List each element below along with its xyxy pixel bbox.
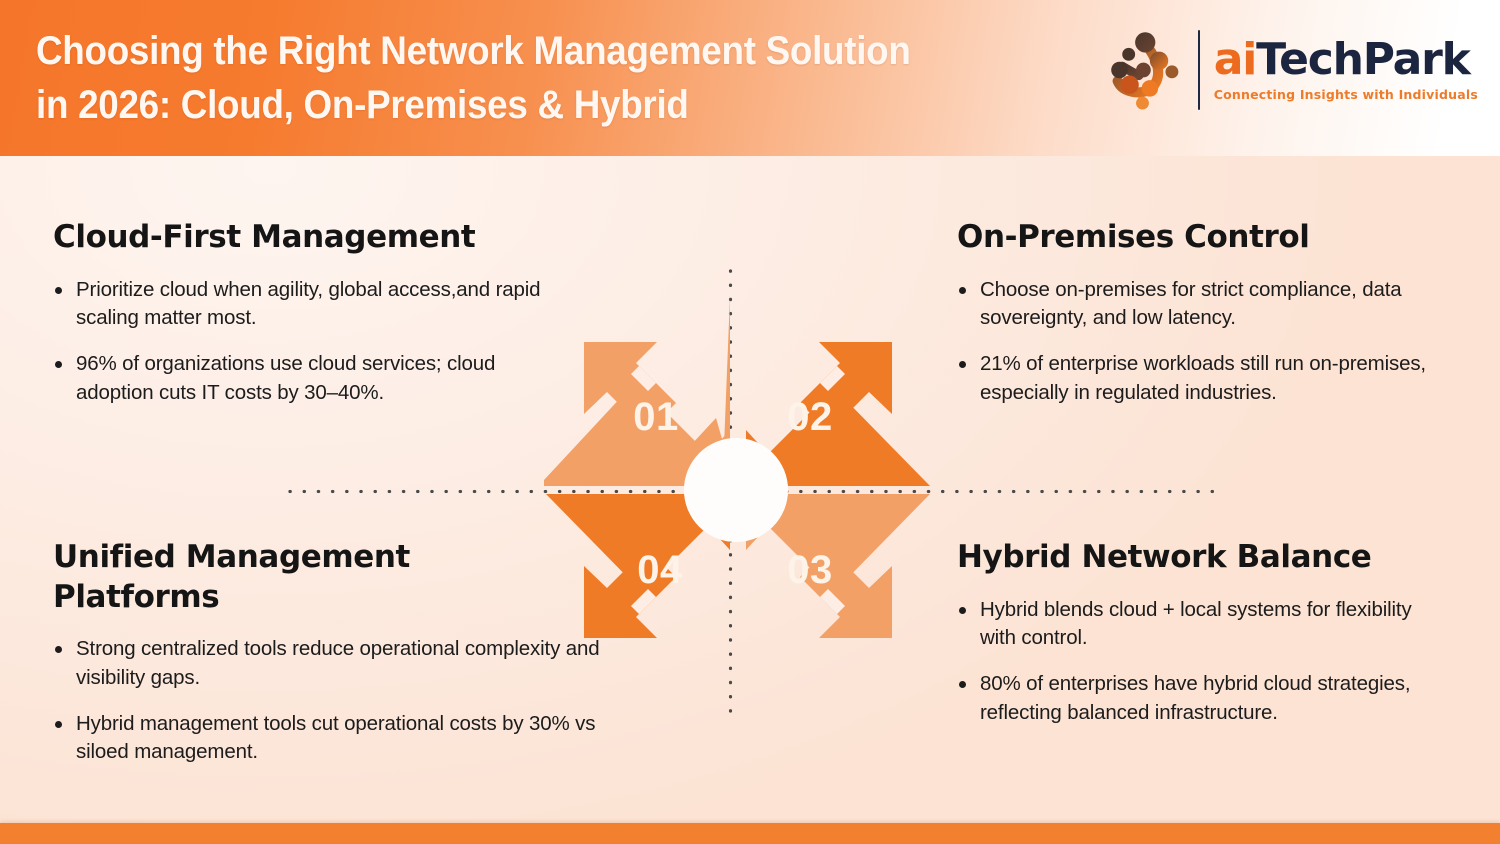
quadrant-title: Hybrid Network Balance — [957, 538, 1452, 578]
footer-accent-bar — [0, 823, 1500, 844]
bullet-item: Hybrid blends cloud + local systems for … — [957, 596, 1452, 653]
quadrant-bullets: Choose on-premises for strict compliance… — [957, 276, 1472, 408]
logo-wordmark: ai TechPark Connecting Insights with Ind… — [1214, 38, 1478, 102]
molecule-network-icon — [1102, 24, 1194, 116]
step-number-03: 03 — [787, 548, 833, 592]
quadrant-on-premises: On-Premises Control Choose on-premises f… — [957, 218, 1472, 407]
header-band: Choosing the Right Network Management So… — [0, 0, 1500, 156]
bullet-item: Hybrid management tools cut operational … — [53, 710, 633, 767]
quadrant-cloud-first: Cloud-First Management Prioritize cloud … — [53, 218, 553, 407]
quadrant-bullets: Hybrid blends cloud + local systems for … — [957, 596, 1452, 728]
quadrant-bullets: Prioritize cloud when agility, global ac… — [53, 276, 553, 408]
bullet-item: 21% of enterprise workloads still run on… — [957, 350, 1472, 407]
step-number-02: 02 — [787, 395, 833, 439]
bullet-item: Prioritize cloud when agility, global ac… — [53, 276, 553, 333]
logo-divider — [1198, 30, 1200, 110]
quadrant-title: Cloud-First Management — [53, 218, 553, 258]
center-hub-circle — [684, 438, 788, 542]
step-number-01: 01 — [633, 395, 679, 439]
step-number-04: 04 — [637, 548, 683, 592]
center-arrow-diagram: 01 02 03 04 — [540, 258, 940, 670]
brand-logo: ai TechPark Connecting Insights with Ind… — [1102, 22, 1478, 118]
quadrant-title: On-Premises Control — [957, 218, 1472, 258]
logo-word-techpark: TechPark — [1256, 38, 1470, 82]
bullet-item: 96% of organizations use cloud services;… — [53, 350, 553, 407]
page-title: Choosing the Right Network Management So… — [36, 24, 1011, 133]
quadrant-hybrid-balance: Hybrid Network Balance Hybrid blends clo… — [957, 538, 1452, 727]
infographic-canvas: Choosing the Right Network Management So… — [0, 0, 1500, 844]
arrow-star-graphic: 01 02 03 04 — [540, 258, 940, 670]
logo-word-ai: ai — [1214, 38, 1256, 82]
bullet-item: Choose on-premises for strict compliance… — [957, 276, 1472, 333]
bullet-item: 80% of enterprises have hybrid cloud str… — [957, 670, 1452, 727]
logo-tagline: Connecting Insights with Individuals — [1214, 87, 1478, 102]
